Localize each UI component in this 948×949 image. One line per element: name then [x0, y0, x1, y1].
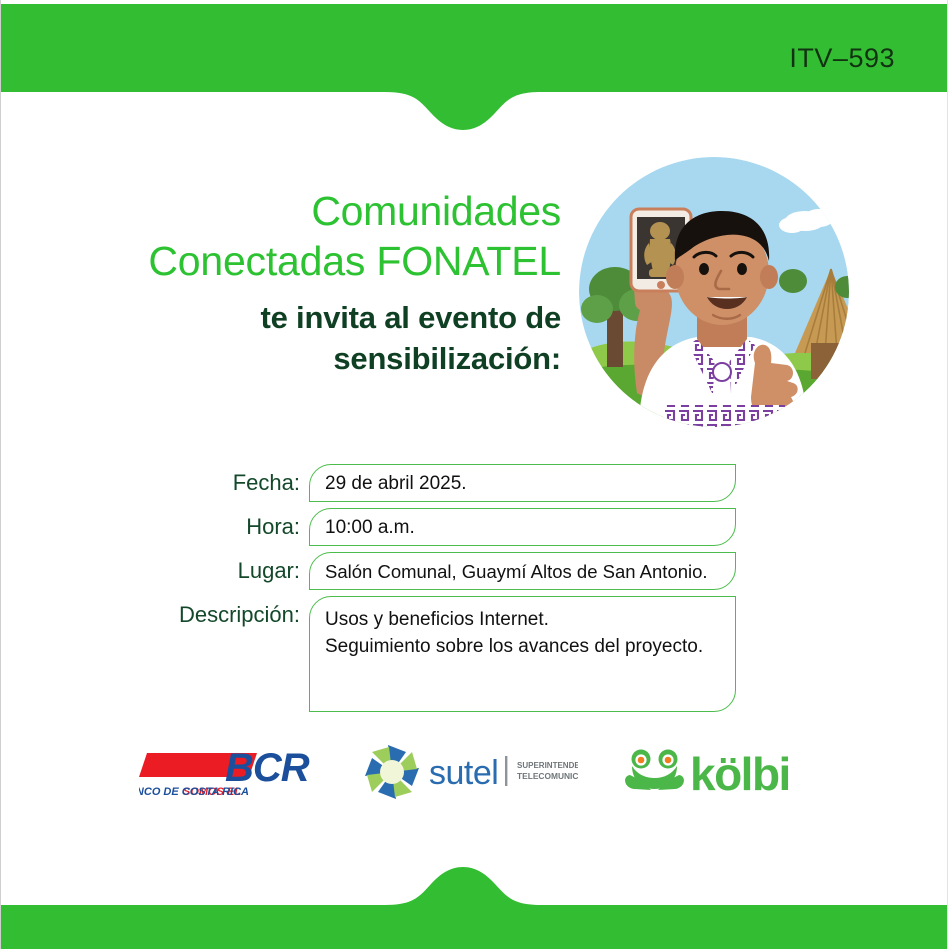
- subtitle-line-2: sensibilización:: [71, 338, 561, 379]
- svg-text:BANCO DE COSTA RICA: BANCO DE COSTA RICA: [139, 786, 249, 798]
- svg-text:BCR: BCR: [225, 746, 310, 790]
- invitation-poster: ITV–593 Comunidades Conectadas FONATEL t…: [0, 0, 948, 949]
- label-descripcion: Descripción:: [1, 596, 309, 634]
- svg-text:TELECOMUNICACIONES: TELECOMUNICACIONES: [517, 771, 578, 781]
- svg-text:sutel: sutel: [429, 754, 498, 792]
- bcr-logo: BCR SOMOS EL BANCO DE COSTA RICA: [139, 743, 317, 801]
- title-line-2: Conectadas FONATEL: [71, 236, 561, 286]
- label-lugar: Lugar:: [1, 552, 309, 590]
- value-hora: 10:00 a.m.: [325, 514, 735, 541]
- subtitle: te invita al evento de sensibilización:: [71, 297, 561, 379]
- field-row-lugar: Lugar: Salón Comunal, Guaymí Altos de Sa…: [1, 552, 948, 590]
- value-box-lugar[interactable]: Salón Comunal, Guaymí Altos de San Anton…: [309, 552, 736, 590]
- frog-icon: [625, 750, 684, 791]
- value-box-hora[interactable]: 10:00 a.m.: [309, 508, 736, 546]
- indigenous-man-with-tablet-illustration: [579, 157, 849, 427]
- kolbi-logo: kölbi: [624, 742, 812, 802]
- sutel-star-icon: [365, 745, 419, 799]
- label-fecha: Fecha:: [1, 464, 309, 502]
- field-row-fecha: Fecha: 29 de abril 2025.: [1, 464, 948, 502]
- field-row-hora: Hora: 10:00 a.m.: [1, 508, 948, 546]
- bottom-green-band: [1, 857, 948, 949]
- svg-text:SUPERINTENDENCIA DE: SUPERINTENDENCIA DE: [517, 761, 578, 770]
- title-line-1: Comunidades: [71, 186, 561, 236]
- value-box-descripcion[interactable]: Usos y beneficios Internet. Seguimiento …: [309, 596, 736, 712]
- label-hora: Hora:: [1, 508, 309, 546]
- event-details-form: Fecha: 29 de abril 2025. Hora: 10:00 a.m…: [1, 464, 948, 718]
- svg-text:kölbi: kölbi: [690, 748, 790, 800]
- sutel-logo: sutel SUPERINTENDENCIA DE TELECOMUNICACI…: [363, 742, 578, 802]
- sponsor-logos: BCR SOMOS EL BANCO DE COSTA RICA: [1, 742, 948, 802]
- subtitle-line-1: te invita al evento de: [71, 297, 561, 338]
- field-row-descripcion: Descripción: Usos y beneficios Internet.…: [1, 596, 948, 712]
- value-fecha: 29 de abril 2025.: [325, 470, 735, 497]
- value-descripcion-line-2: Seguimiento sobre los avances del proyec…: [325, 633, 735, 660]
- value-descripcion-line-1: Usos y beneficios Internet.: [325, 606, 735, 633]
- page-title: Comunidades Conectadas FONATEL te invita…: [71, 186, 561, 379]
- value-box-fecha[interactable]: 29 de abril 2025.: [309, 464, 736, 502]
- value-lugar: Salón Comunal, Guaymí Altos de San Anton…: [325, 558, 735, 585]
- document-code: ITV–593: [789, 43, 895, 74]
